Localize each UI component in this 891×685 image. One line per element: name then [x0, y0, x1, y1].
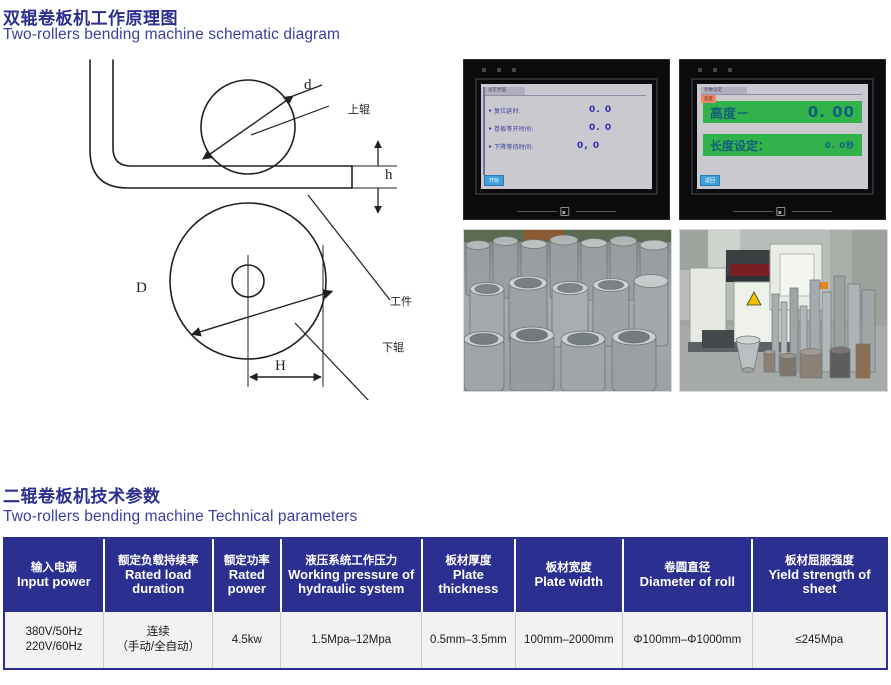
- hmi-left-accent: [483, 87, 485, 175]
- label-workpiece: 工件: [390, 293, 412, 309]
- hmi-logo-mark: [776, 207, 785, 216]
- upper-roller-leader: [251, 106, 329, 135]
- column-header-rated-load-duration: 额定负载持续率 Rated load duration: [104, 539, 213, 612]
- table-header-row: 输入电源 Input power 额定负载持续率 Rated load dura…: [5, 539, 886, 612]
- cell-yield-strength: ≤245Mpa: [752, 612, 886, 668]
- hmi-start-button[interactable]: 开始: [484, 175, 504, 186]
- column-header-plate-width: 板材宽度 Plate width: [515, 539, 622, 612]
- hmi-indicator-leds: [482, 68, 516, 72]
- bullet-icon: ▸: [489, 143, 492, 150]
- schematic-title-en: Two-rollers bending machine schematic di…: [3, 26, 340, 44]
- hmi-back-button[interactable]: 返回: [700, 175, 720, 186]
- photo-hmi-height-screen: 参数设定 高度 高度－ 0. 00 长度设定： 0. 0秒 返回: [679, 59, 886, 220]
- cell-line: ≤245Mpa: [755, 633, 884, 648]
- column-header-working-pressure: 液压系统工作压力 Working pressure of hydraulic s…: [281, 539, 422, 612]
- cell-line: 连续: [106, 625, 210, 640]
- hmi-param-label: 卷板等开时间:: [494, 124, 533, 133]
- cell-line: 100mm–2000mm: [518, 633, 620, 648]
- cell-rated-power: 4.5kw: [213, 612, 281, 668]
- header-cn: 卷圆直径: [626, 562, 750, 575]
- column-header-diameter-of-roll: 卷圆直径 Diameter of roll: [623, 539, 753, 612]
- header-en: Rated power: [216, 568, 278, 596]
- hmi-screen-frame: 参数设定 高度 高度－ 0. 00 长度设定： 0. 0秒 返回: [691, 78, 874, 195]
- hmi-param-value[interactable]: 0. 0: [589, 123, 612, 133]
- parameters-title-cn: 二辊卷板机技术参数: [3, 482, 161, 507]
- cell-rated-load-duration: 连续 （手动/全自动）: [104, 612, 213, 668]
- header-en: Rated load duration: [107, 568, 210, 596]
- hmi-brand-logo: [517, 207, 616, 216]
- hmi-length-row[interactable]: 长度设定： 0. 0秒: [703, 134, 862, 156]
- hmi-indicator-leds: [698, 68, 732, 72]
- photo-bending-machine: [679, 229, 888, 392]
- cell-line: 1.5Mpa–12Mpa: [283, 633, 419, 648]
- label-offset: H: [275, 358, 286, 375]
- column-header-input-power: 输入电源 Input power: [5, 539, 104, 612]
- header-en: Working pressure of hydraulic system: [284, 568, 419, 596]
- column-header-rated-power: 额定功率 Rated power: [213, 539, 281, 612]
- hmi-length-label: 长度设定：: [710, 137, 770, 154]
- label-upper-roller-diameter: d: [304, 77, 312, 94]
- cell-line: （手动/全自动）: [106, 640, 210, 655]
- header-cn: 液压系统工作压力: [284, 555, 419, 568]
- technical-parameters-table: 输入电源 Input power 额定负载持续率 Rated load dura…: [3, 537, 888, 670]
- machine-art: [680, 230, 887, 391]
- hmi-bezel: 参数设定 高度 高度－ 0. 00 长度设定： 0. 0秒 返回: [679, 59, 886, 220]
- schematic-diagram: d 上辊 h 工件 D 下辊 H: [60, 55, 460, 400]
- hmi-height-row[interactable]: 高度－ 0. 00: [703, 101, 862, 123]
- parameters-title-en: Two-rollers bending machine Technical pa…: [3, 508, 357, 526]
- column-header-yield-strength: 板材屈服强度 Yield strength of sheet: [752, 539, 886, 612]
- cell-input-power: 380V/50Hz 220V/60Hz: [5, 612, 104, 668]
- page-root: 双辊卷板机工作原理图 Two-rollers bending machine s…: [0, 0, 891, 685]
- machine-scene: [680, 230, 887, 391]
- hmi-param-row[interactable]: ▸ 下降等待时间: 0, 0: [489, 140, 644, 152]
- photo-hmi-timing-screen: 设定界面 ▸ 复位延时: 0. 0 ▸ 卷板等开时间: 0. 0 ▸ 下降: [463, 59, 670, 220]
- hmi-window-title: 参数设定: [701, 87, 747, 94]
- hmi-param-value[interactable]: 0, 0: [577, 141, 600, 151]
- label-upper-roller: 上辊: [348, 101, 370, 117]
- header-cn: 板材屈服强度: [755, 555, 884, 568]
- hmi-window-titlebar: 参数设定: [701, 87, 862, 95]
- header-en: Input power: [7, 575, 101, 589]
- cell-line: Φ100mm–Φ1000mm: [625, 633, 750, 648]
- hmi-brand-logo: [733, 207, 832, 216]
- hmi-screen[interactable]: 参数设定 高度 高度－ 0. 00 长度设定： 0. 0秒 返回: [697, 84, 868, 189]
- header-cn: 板材厚度: [425, 555, 512, 568]
- hmi-screen-frame: 设定界面 ▸ 复位延时: 0. 0 ▸ 卷板等开时间: 0. 0 ▸ 下降: [475, 78, 658, 195]
- hmi-length-value[interactable]: 0. 0秒: [825, 140, 855, 151]
- lower-roller-leader: [295, 323, 370, 400]
- table-row: 380V/50Hz 220V/60Hz 连续 （手动/全自动） 4.5kw: [5, 612, 886, 668]
- header-cn: 额定功率: [216, 555, 278, 568]
- header-cn: 板材宽度: [518, 562, 619, 575]
- cell-plate-thickness: 0.5mm–3.5mm: [422, 612, 515, 668]
- label-lower-roller-diameter: D: [136, 280, 147, 297]
- cell-diameter-of-roll: Φ100mm–Φ1000mm: [623, 612, 753, 668]
- hmi-height-label: 高度－: [710, 103, 749, 122]
- cell-line: 0.5mm–3.5mm: [424, 633, 512, 648]
- upper-roller-diameter-arrow: [203, 96, 293, 159]
- cylinders-art: [464, 230, 671, 391]
- photo-rolled-cylinders: [463, 229, 672, 392]
- lower-roller-diameter-arrow: [189, 291, 336, 334]
- bullet-icon: ▸: [489, 125, 492, 132]
- cell-plate-width: 100mm–2000mm: [515, 612, 622, 668]
- header-en: Yield strength of sheet: [755, 568, 884, 596]
- hmi-height-value[interactable]: 0. 00: [808, 103, 855, 121]
- hmi-window-titlebar: 设定界面: [485, 87, 646, 96]
- hmi-param-value[interactable]: 0. 0: [589, 105, 612, 115]
- header-cn: 额定负载持续率: [107, 555, 210, 568]
- header-cn: 输入电源: [7, 562, 101, 575]
- hmi-status-badge: 高度: [701, 95, 716, 103]
- header-en: Plate thickness: [425, 568, 512, 596]
- label-plate-thickness: h: [385, 167, 393, 184]
- label-lower-roller: 下辊: [382, 339, 404, 355]
- hmi-param-row[interactable]: ▸ 卷板等开时间: 0. 0: [489, 122, 644, 134]
- hmi-param-label: 复位延时:: [494, 106, 521, 115]
- hmi-screen[interactable]: 设定界面 ▸ 复位延时: 0. 0 ▸ 卷板等开时间: 0. 0 ▸ 下降: [481, 84, 652, 189]
- cell-working-pressure: 1.5Mpa–12Mpa: [281, 612, 422, 668]
- cell-line: 220V/60Hz: [7, 640, 101, 655]
- header-en: Diameter of roll: [626, 575, 750, 589]
- cell-line: 380V/50Hz: [7, 625, 101, 640]
- column-header-plate-thickness: 板材厚度 Plate thickness: [422, 539, 515, 612]
- bullet-icon: ▸: [489, 107, 492, 114]
- hmi-param-row[interactable]: ▸ 复位延时: 0. 0: [489, 104, 644, 116]
- cylinders-scene: [464, 230, 671, 391]
- hmi-bezel: 设定界面 ▸ 复位延时: 0. 0 ▸ 卷板等开时间: 0. 0 ▸ 下降: [463, 59, 670, 220]
- header-en: Plate width: [518, 575, 619, 589]
- cell-line: 4.5kw: [215, 633, 278, 648]
- hmi-logo-mark: [560, 207, 569, 216]
- hmi-window-title: 设定界面: [485, 87, 525, 95]
- hmi-param-label: 下降等待时间:: [494, 142, 533, 151]
